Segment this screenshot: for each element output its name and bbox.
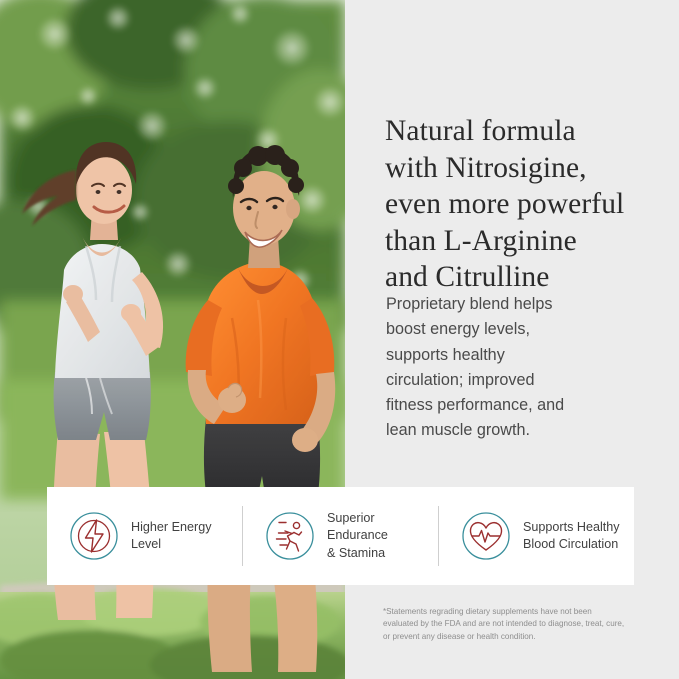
feature-label: Supports Healthy Blood Circulation	[523, 519, 620, 554]
feature-benefits-card: Higher Energy Level	[47, 487, 634, 585]
page-title: Natural formula with Nitrosigine, even m…	[385, 113, 679, 296]
heart-pulse-icon	[461, 511, 511, 561]
running-person-icon	[265, 511, 315, 561]
promo-banner: Natural formula with Nitrosigine, even m…	[0, 0, 679, 679]
feature-superior-endurance: Superior Endurance & Stamina	[243, 510, 438, 563]
body-description: Proprietary blend helps boost energy lev…	[386, 292, 618, 444]
feature-blood-circulation: Supports Healthy Blood Circulation	[439, 511, 634, 561]
lightning-bolt-icon	[69, 511, 119, 561]
feature-higher-energy: Higher Energy Level	[47, 511, 242, 561]
fda-disclaimer: *Statements regrading dietary supplement…	[383, 606, 645, 643]
feature-label: Superior Endurance & Stamina	[327, 510, 438, 563]
feature-label: Higher Energy Level	[131, 519, 212, 554]
